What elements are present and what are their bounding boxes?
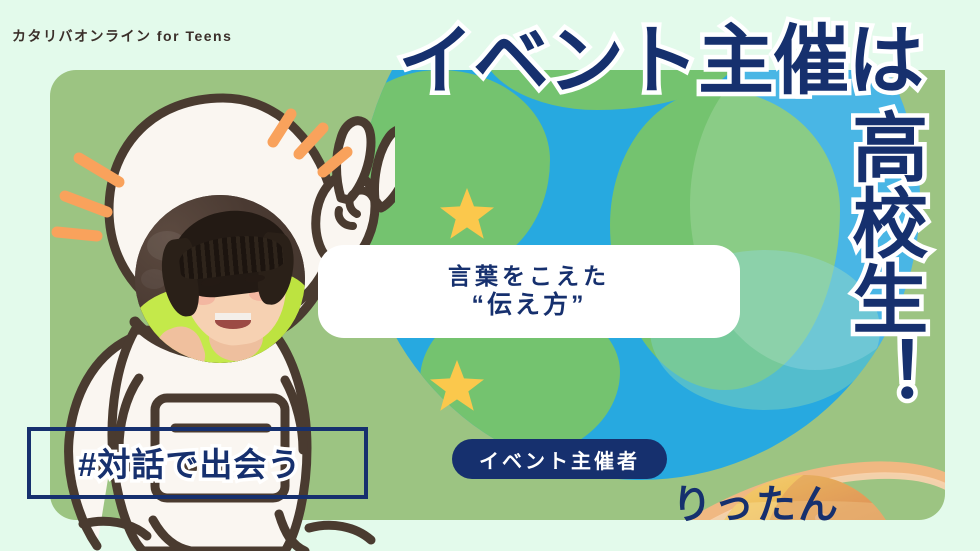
student-portrait-photo (135, 195, 305, 363)
role-badge-label: イベント主催者 (479, 445, 640, 474)
page-title-horizontal: イベント主催は (398, 26, 923, 97)
page-title-vertical: 高校生！ (845, 108, 920, 412)
role-badge: イベント主催者 (452, 439, 667, 479)
quote-line-2: “伝え方” (471, 290, 586, 321)
peace-sign-hand (316, 121, 395, 262)
poster-canvas: カタリバオンライン for Teens イベント主催は 高校生！ 言葉をこえた … (0, 0, 980, 551)
brand-logo-text: カタリバオンライン for Teens (12, 26, 232, 46)
quote-box: 言葉をこえた “伝え方” (318, 245, 740, 338)
speaker-nickname: りったん (672, 472, 840, 530)
quote-line-1: 言葉をこえた (448, 262, 610, 291)
hashtag-label: #対話で出会う (78, 438, 301, 486)
